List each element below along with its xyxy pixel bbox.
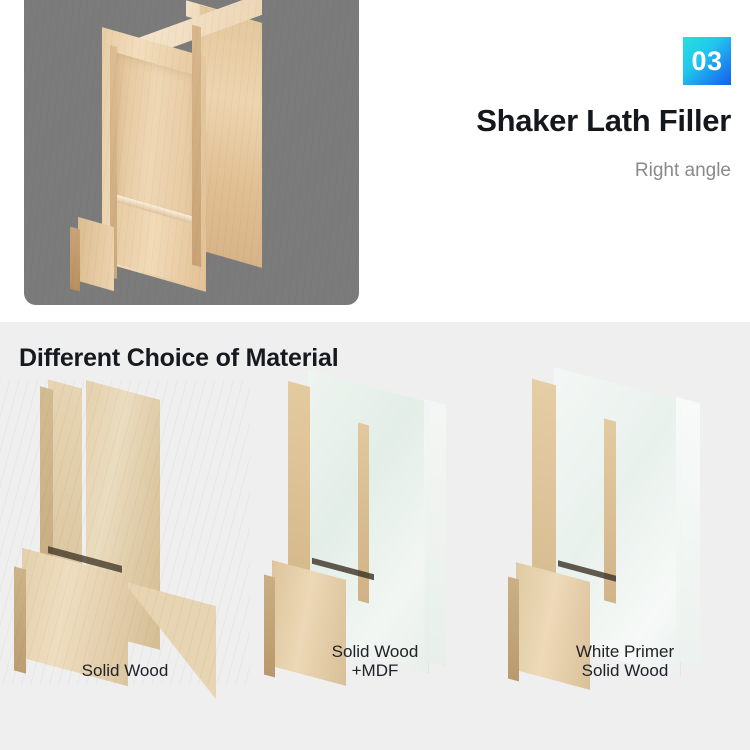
product-photo-card: [24, 0, 359, 305]
materials-heading: Different Choice of Material: [19, 344, 338, 373]
material-caption: Solid Wood +MDF: [250, 642, 500, 681]
product-subtitle: Right angle: [211, 160, 731, 183]
caption-line-1: White Primer: [576, 642, 674, 661]
material-option-solid-wood[interactable]: Solid Wood: [0, 380, 250, 750]
material-option-white-primer-solid-wood[interactable]: White Primer Solid Wood: [500, 380, 750, 750]
product-detail-page: 03 Shaker Lath Filler Right angle Differ…: [0, 0, 750, 750]
caption-line-2: +MDF: [352, 661, 399, 680]
material-caption: Solid Wood: [0, 661, 250, 681]
material-option-solid-wood-mdf[interactable]: Solid Wood +MDF: [250, 380, 500, 750]
caption-line-2: Solid Wood: [582, 661, 669, 680]
hero-section: 03 Shaker Lath Filler Right angle: [0, 0, 750, 322]
solid-wood-sample-image: Solid Wood: [0, 380, 250, 685]
material-caption: White Primer Solid Wood: [500, 642, 750, 681]
solid-wood-mdf-sample-image: Solid Wood +MDF: [250, 380, 500, 685]
materials-grid: Solid Wood Solid Wood +MDF: [0, 380, 750, 750]
shaker-door-photo: [24, 0, 359, 305]
caption-line-1: Solid Wood: [82, 661, 169, 680]
materials-section: Different Choice of Material Solid Wood: [0, 322, 750, 750]
step-number-badge: 03: [683, 37, 731, 85]
product-title: Shaker Lath Filler: [211, 104, 731, 138]
caption-line-1: Solid Wood: [332, 642, 419, 661]
white-primer-solid-wood-sample-image: White Primer Solid Wood: [500, 380, 750, 685]
